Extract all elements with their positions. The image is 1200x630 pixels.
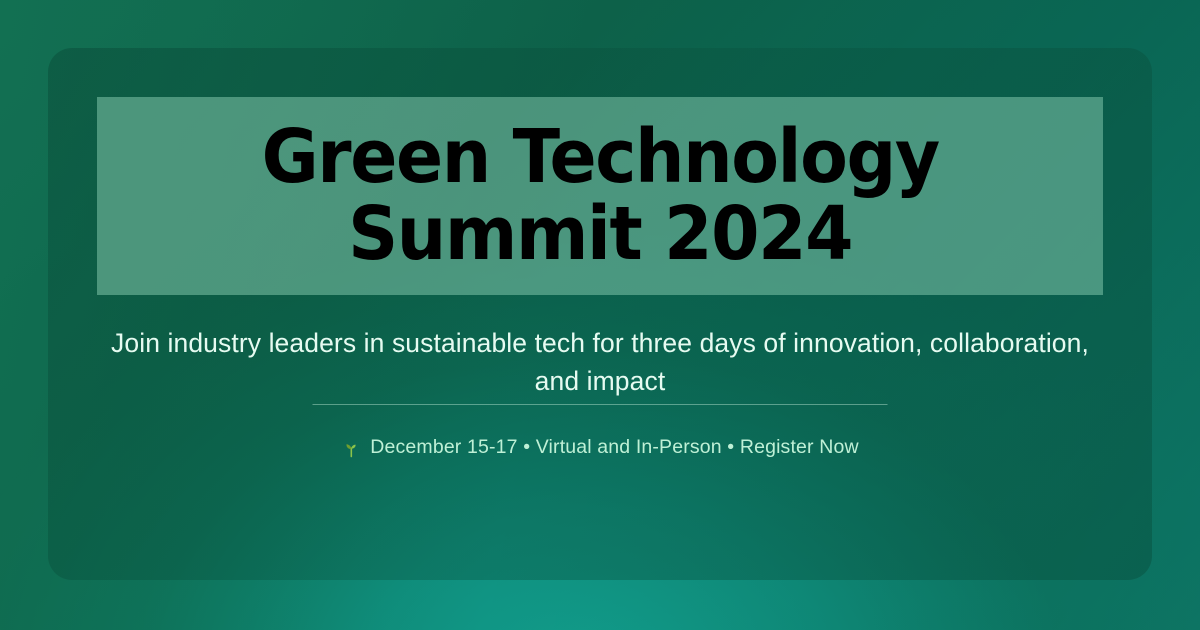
subtitle-text: Join industry leaders in sustainable tec… bbox=[95, 325, 1105, 400]
divider bbox=[313, 404, 888, 405]
content-card: Green Technology Summit 2024 Join indust… bbox=[48, 48, 1152, 580]
event-meta-row: December 15-17 • Virtual and In-Person •… bbox=[341, 436, 858, 459]
sprout-icon bbox=[341, 439, 361, 459]
page-title-line-2: Summit 2024 bbox=[348, 198, 852, 271]
event-meta-text: December 15-17 • Virtual and In-Person •… bbox=[370, 436, 858, 459]
promo-banner: Green Technology Summit 2024 Join indust… bbox=[0, 0, 1200, 630]
page-title-line-1: Green Technology bbox=[261, 121, 938, 194]
title-banner: Green Technology Summit 2024 bbox=[97, 97, 1103, 295]
